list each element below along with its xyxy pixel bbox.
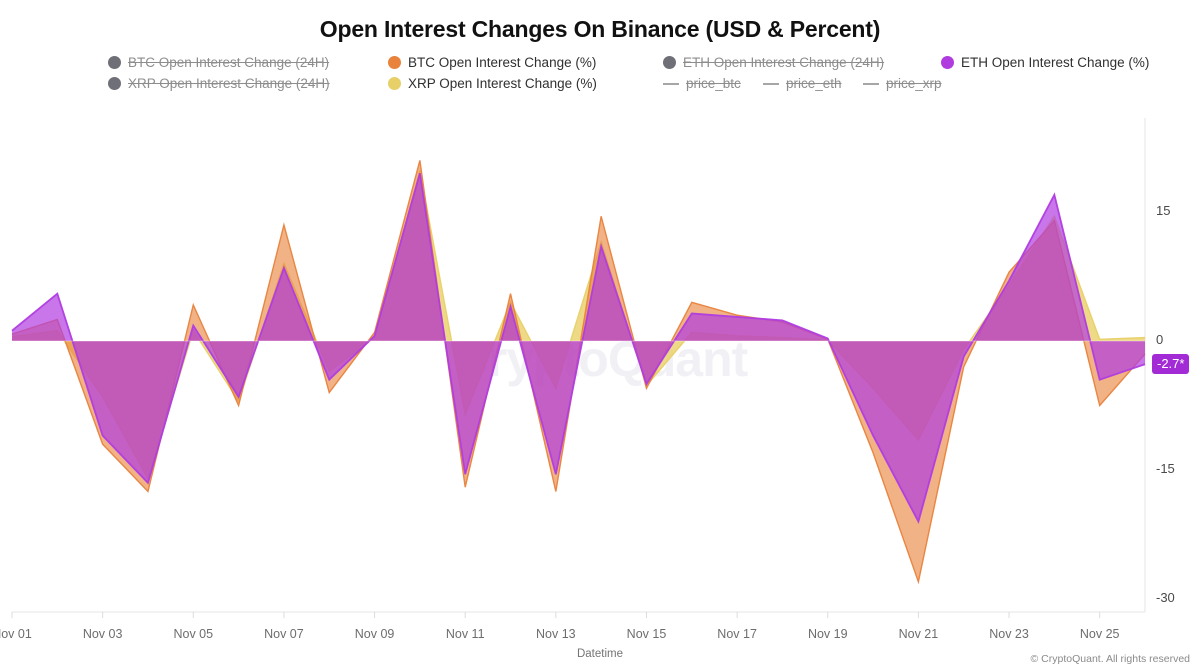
x-axis-tick-9: Nov 19 <box>808 627 848 641</box>
current-value-badge: -2.7* <box>1152 354 1189 374</box>
x-axis-tick-8: Nov 17 <box>717 627 757 641</box>
y-axis-tick-15: 15 <box>1156 203 1170 218</box>
x-axis-tick-4: Nov 09 <box>355 627 395 641</box>
series-fill <box>12 173 1145 521</box>
x-axis-tick-1: Nov 03 <box>83 627 123 641</box>
series-area-2 <box>12 171 1145 479</box>
series-area-0 <box>12 160 1145 581</box>
copyright-notice: © CryptoQuant. All rights reserved <box>1031 653 1190 665</box>
series-fill <box>12 160 1145 581</box>
series-line <box>12 160 1145 581</box>
x-axis-tick-10: Nov 21 <box>899 627 939 641</box>
x-axis-tick-3: Nov 07 <box>264 627 304 641</box>
x-axis-tick-2: Nov 05 <box>173 627 213 641</box>
y-axis-tick-0: 0 <box>1156 332 1163 347</box>
series-area-1 <box>12 173 1145 521</box>
x-axis-tick-0: Nov 01 <box>0 627 32 641</box>
x-axis-tick-5: Nov 11 <box>446 627 485 641</box>
y-axis-tick--30: -30 <box>1156 590 1175 605</box>
x-axis-tick-6: Nov 13 <box>536 627 576 641</box>
y-axis-tick--15: -15 <box>1156 461 1175 476</box>
x-axis-title: Datetime <box>0 648 1200 660</box>
series-fill <box>12 171 1145 479</box>
x-axis-tick-7: Nov 15 <box>627 627 667 641</box>
chart-container: Open Interest Changes On Binance (USD & … <box>0 0 1200 671</box>
x-axis-tick-12: Nov 25 <box>1080 627 1120 641</box>
x-axis-tick-11: Nov 23 <box>989 627 1029 641</box>
plot-area <box>0 0 1200 671</box>
